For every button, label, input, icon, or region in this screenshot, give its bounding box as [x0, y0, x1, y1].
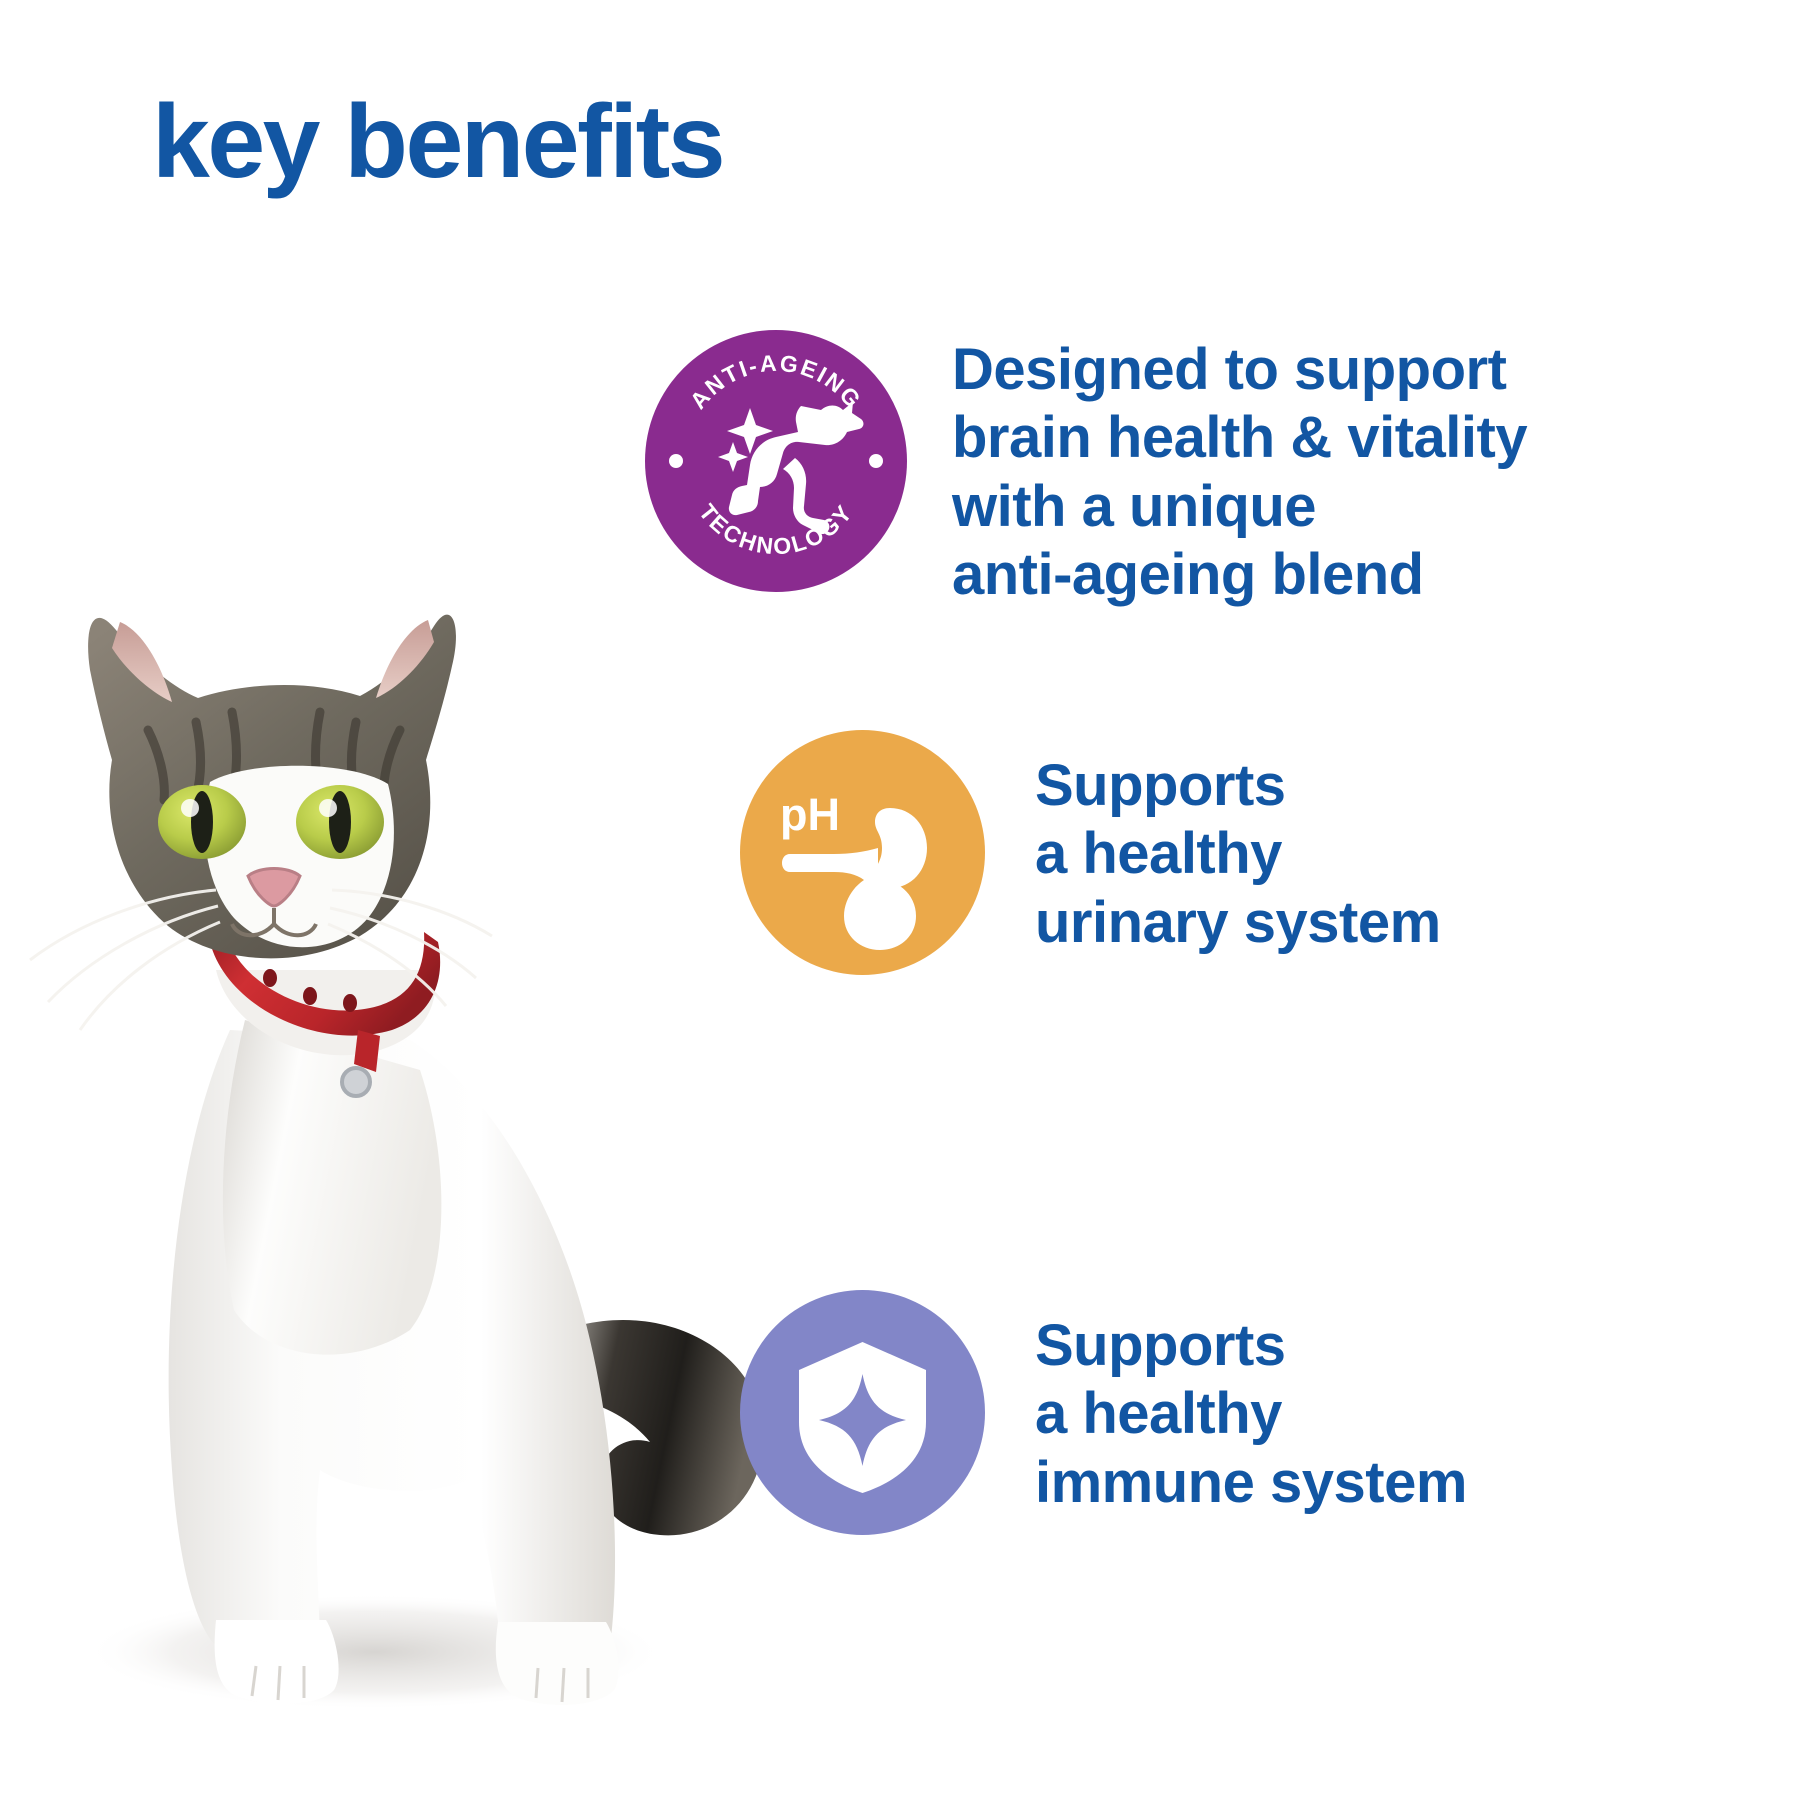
benefit-item-immune: Supports a healthy immune system — [740, 1290, 1467, 1535]
shield-sparkle-immune-icon — [740, 1290, 985, 1535]
cat-chest — [223, 1020, 441, 1355]
svg-text:pH: pH — [780, 789, 840, 840]
page-title: key benefits — [152, 88, 723, 197]
cat-eye-right — [296, 785, 384, 859]
cat-paw-left — [215, 1620, 339, 1704]
collar-ring — [342, 1068, 370, 1096]
benefit-text-immune: Supports a healthy immune system — [1035, 1312, 1467, 1517]
benefit-text-anti-ageing: Designed to support brain health & vital… — [952, 336, 1527, 610]
ph-kidney-icon: pH — [740, 730, 985, 975]
anti-ageing-technology-badge-icon: ANTI-AGEING TECHNOLOGY — [645, 330, 907, 592]
benefit-text-urinary: Supports a healthy urinary system — [1035, 752, 1441, 957]
benefit-item-urinary: pH Supports a healthy urinary system — [740, 730, 1441, 975]
benefit-item-anti-ageing: ANTI-AGEING TECHNOLOGY Designed to suppo… — [645, 330, 1527, 610]
cat-eye-left — [158, 785, 246, 859]
key-benefits-panel: key benefits — [0, 0, 1800, 1800]
cat-paw-right — [496, 1622, 619, 1705]
